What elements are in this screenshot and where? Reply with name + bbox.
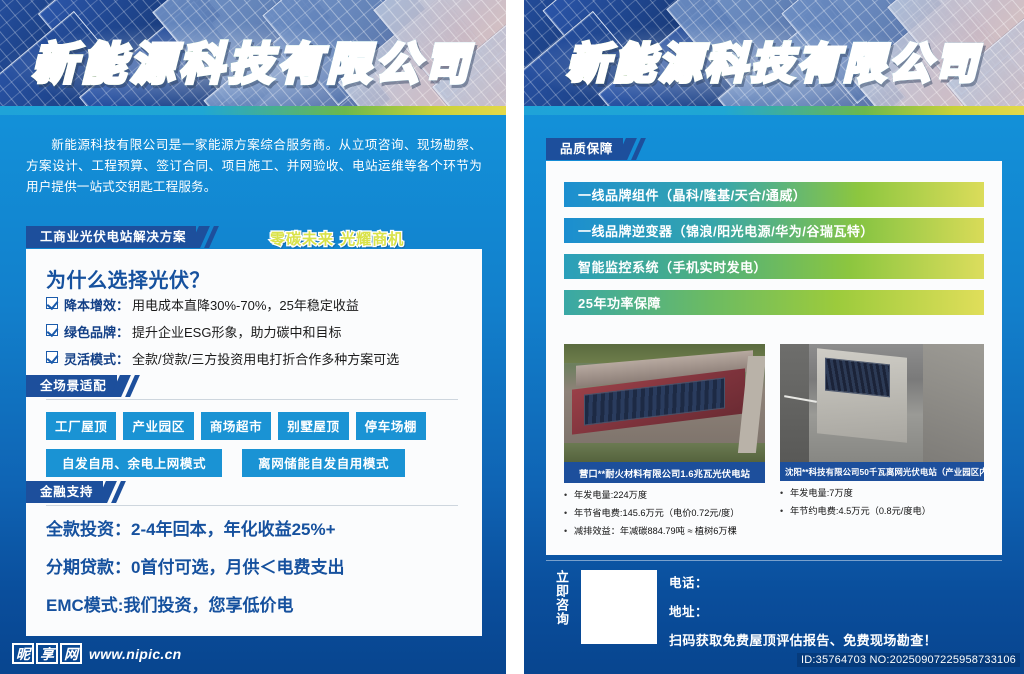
bullet-text: 年节省电费:145.6万元（电价0.72元/度） xyxy=(574,507,739,519)
section-header-quality-label: 品质保障 xyxy=(546,138,623,160)
nipic-logo-icon: 昵 享 网 xyxy=(12,643,82,664)
checkbox-checked-icon xyxy=(46,297,58,309)
tag-row-2: 自发自用、余电上网模式 离网储能自发自用模式 xyxy=(46,449,466,477)
project-bullets-1: • 年发电量:224万度 • 年节省电费:145.6万元（电价0.72元/度） … xyxy=(564,489,765,537)
divider xyxy=(46,505,458,506)
project-caption-1: 营口**耐火材料有限公司1.6兆瓦光伏电站 xyxy=(564,462,765,483)
list-item: 灵活模式： 全款/贷款/三方投资用电打折合作多种方案可选 xyxy=(46,349,476,368)
nipic-url: www.nipic.cn xyxy=(89,646,182,662)
list-item: 绿色品牌： 提升企业ESG形象，助力碳中和目标 xyxy=(46,322,476,341)
scan-cta-text: 扫码获取免费屋顶评估报告、免费现场勘查！ xyxy=(669,630,937,649)
finance-value: 2-4年回本，年化收益25%+ xyxy=(131,520,336,539)
poster-page: 新能源科技有限公司 新能源科技有限公司是一家能源方案综合服务商。从立项咨询、现场… xyxy=(0,0,1024,674)
address-label: 地址： xyxy=(669,601,937,620)
bullet-dot-icon: • xyxy=(564,489,571,501)
quality-bar-monitoring: 智能监控系统（手机实时发电） xyxy=(564,254,984,279)
why-heading: 为什么选择光伏？ xyxy=(46,264,210,293)
page-title: 新能源科技有限公司 xyxy=(524,30,1024,91)
benefit-value: 提升企业ESG形象，助力碳中和目标 xyxy=(132,322,341,341)
list-item: • 年发电量:224万度 xyxy=(564,489,765,501)
quality-bar-modules: 一线品牌组件（晶科/隆基/天合/通威） xyxy=(564,182,984,207)
section-header-scenario-label: 全场景适配 xyxy=(26,375,117,397)
section-header-finance-label: 金融支持 xyxy=(26,481,103,503)
list-item: • 年节省电费:145.6万元（电价0.72元/度） xyxy=(564,507,765,519)
finance-key: 分期贷款： xyxy=(46,558,131,577)
bullet-dot-icon: • xyxy=(564,507,571,519)
tag-industrial-park[interactable]: 产业园区 xyxy=(123,412,193,440)
quality-bar-warranty: 25年功率保障 xyxy=(564,290,984,315)
finance-value: 我们投资，您享低价电 xyxy=(123,596,293,615)
project-photo-1 xyxy=(564,344,765,462)
section-header-scenario: 全场景适配 xyxy=(26,375,135,397)
qr-code-placeholder[interactable] xyxy=(581,570,657,644)
list-item: 分期贷款：0首付可选，月供＜电费支出 xyxy=(46,553,476,578)
benefit-key: 降本增效： xyxy=(64,295,129,314)
project-card-2: 沈阳**科技有限公司50千瓦离网光伏电站（产业园区内） • 年发电量:7万度 •… xyxy=(780,344,984,523)
company-intro-paragraph: 新能源科技有限公司是一家能源方案综合服务商。从立项咨询、现场勘察、方案设计、工程… xyxy=(26,135,482,198)
section-header-finance: 金融支持 xyxy=(26,481,121,503)
section-header-quality: 品质保障 xyxy=(546,138,641,160)
bullet-text: 减排效益：年减碳884.79吨 ≈ 植树6万棵 xyxy=(574,525,737,537)
nipic-logo-char-3: 网 xyxy=(60,643,82,664)
tag-row-1: 工厂屋顶 产业园区 商场超市 别墅屋顶 停车场棚 xyxy=(46,412,466,440)
nipic-logo-char-2: 享 xyxy=(36,643,58,664)
tag-factory-roof[interactable]: 工厂屋顶 xyxy=(46,412,116,440)
quality-guarantee-bars: 一线品牌组件（晶科/隆基/天合/通威） 一线品牌逆变器（锦浪/阳光电源/华为/谷… xyxy=(564,182,984,326)
benefit-value: 全款/贷款/三方投资用电打折合作多种方案可选 xyxy=(132,349,399,368)
image-id-number: ID:35764703 NO:20250907225958733106 xyxy=(797,653,1020,667)
poster-back-page: 新能源科技有限公司 品质保障 一线品牌组件（晶科/隆基/天合/通威） 一线品牌逆… xyxy=(524,0,1024,674)
list-item: • 年节约电费:4.5万元（0.8元/度电） xyxy=(780,505,984,517)
section-header-solution: 工商业光伏电站解决方案 xyxy=(26,226,214,248)
tag-villa-roof[interactable]: 别墅屋顶 xyxy=(278,412,348,440)
list-item: 降本增效： 用电成本直降30%-70%，25年稳定收益 xyxy=(46,295,476,314)
bullet-text: 年发电量:7万度 xyxy=(790,487,853,499)
list-item: 全款投资：2-4年回本，年化收益25%+ xyxy=(46,515,476,540)
page-title: 新能源科技有限公司 xyxy=(0,28,506,92)
finance-value: 0首付可选，月供＜电费支出 xyxy=(131,558,344,577)
quality-bar-inverters: 一线品牌逆变器（锦浪/阳光电源/华为/谷瑞瓦特） xyxy=(564,218,984,243)
scenario-tags: 工厂屋顶 产业园区 商场超市 别墅屋顶 停车场棚 自发自用、余电上网模式 离网储… xyxy=(46,412,466,486)
project-photo-2 xyxy=(780,344,984,462)
benefit-value: 用电成本直降30%-70%，25年稳定收益 xyxy=(132,295,359,314)
poster-front-page: 新能源科技有限公司 新能源科技有限公司是一家能源方案综合服务商。从立项咨询、现场… xyxy=(0,0,506,674)
finance-key: EMC模式: xyxy=(46,596,123,615)
project-card-1: 营口**耐火材料有限公司1.6兆瓦光伏电站 • 年发电量:224万度 • 年节省… xyxy=(564,344,765,543)
project-bullets-2: • 年发电量:7万度 • 年节约电费:4.5万元（0.8元/度电） xyxy=(780,487,984,517)
benefit-key: 灵活模式： xyxy=(64,349,129,368)
bullet-dot-icon: • xyxy=(564,525,571,537)
tag-parking-canopy[interactable]: 停车场棚 xyxy=(356,412,426,440)
tag-self-use-grid-mode[interactable]: 自发自用、余电上网模式 xyxy=(46,449,222,477)
hero-gradient-strip xyxy=(0,106,506,115)
checkbox-checked-icon xyxy=(46,351,58,363)
nipic-logo-char-1: 昵 xyxy=(12,643,34,664)
bullet-text: 年节约电费:4.5万元（0.8元/度电） xyxy=(790,505,931,517)
hero-gradient-strip xyxy=(524,106,1024,115)
nipic-watermark: 昵 享 网 www.nipic.cn xyxy=(12,643,182,664)
benefit-key: 绿色品牌： xyxy=(64,322,129,341)
tag-offgrid-storage-mode[interactable]: 离网储能自发自用模式 xyxy=(242,449,405,477)
divider xyxy=(46,399,458,400)
list-item: • 年发电量:7万度 xyxy=(780,487,984,499)
finance-options: 全款投资：2-4年回本，年化收益25%+ 分期贷款：0首付可选，月供＜电费支出 … xyxy=(46,515,476,629)
slogan-text: 零碳未来 光耀商机 xyxy=(270,228,404,249)
contact-section: 立即咨询 电话： 地址： 扫码获取免费屋顶评估报告、免费现场勘查！ xyxy=(554,570,1004,649)
section-header-solution-label: 工商业光伏电站解决方案 xyxy=(26,226,196,248)
list-item: • 减排效益：年减碳884.79吨 ≈ 植树6万棵 xyxy=(564,525,765,537)
footer-divider xyxy=(546,560,1002,561)
benefits-checklist: 降本增效： 用电成本直降30%-70%，25年稳定收益 绿色品牌： 提升企业ES… xyxy=(46,295,476,376)
bullet-dot-icon: • xyxy=(780,505,787,517)
phone-label: 电话： xyxy=(669,572,937,591)
bullet-dot-icon: • xyxy=(780,487,787,499)
contact-details: 电话： 地址： 扫码获取免费屋顶评估报告、免费现场勘查！ xyxy=(669,570,937,649)
bullet-text: 年发电量:224万度 xyxy=(574,489,647,501)
tag-mall-supermarket[interactable]: 商场超市 xyxy=(201,412,271,440)
list-item: EMC模式:我们投资，您享低价电 xyxy=(46,591,476,616)
consult-now-label: 立即咨询 xyxy=(554,570,569,626)
checkbox-checked-icon xyxy=(46,324,58,336)
finance-key: 全款投资： xyxy=(46,520,131,539)
project-caption-2: 沈阳**科技有限公司50千瓦离网光伏电站（产业园区内） xyxy=(780,462,984,481)
